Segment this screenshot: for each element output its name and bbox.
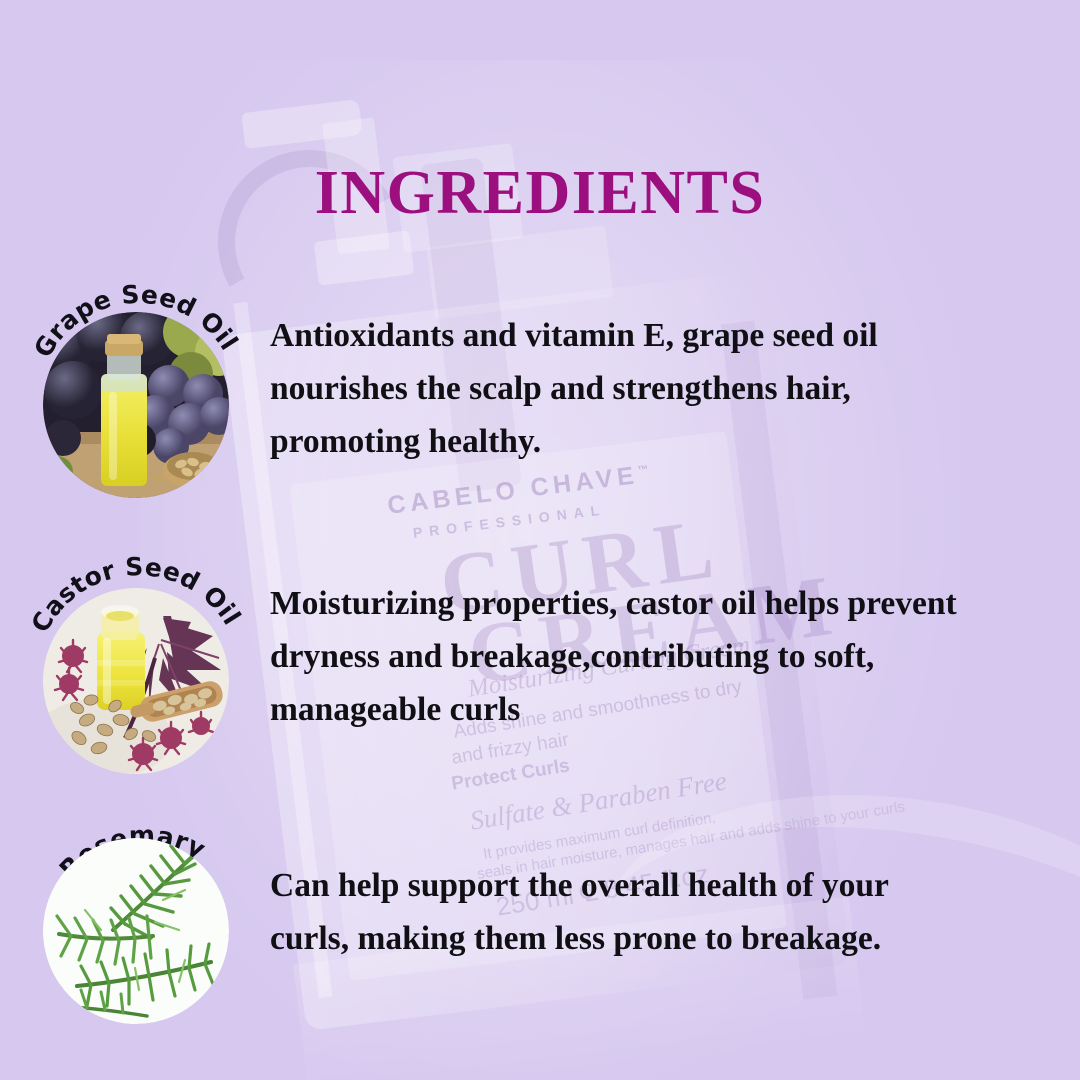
watermark-brand-name: CABELO CHAVE™	[386, 460, 651, 521]
rosemary-photo	[43, 838, 229, 1024]
watermark-description-1: It provides maximum curl definition,	[482, 809, 717, 863]
watermark-claim: Sulfate & Paraben Free	[468, 765, 729, 836]
castor-seed-oil-photo	[43, 588, 229, 774]
ingredient-badge-castor-seed-oil: Castor Seed Oil	[34, 528, 239, 758]
watermark-brand-subtitle: PROFESSIONAL	[412, 501, 607, 541]
ingredient-description-grape-seed-oil: Antioxidants and vitamin E, grape seed o…	[270, 310, 960, 469]
pump-nozzle	[241, 99, 363, 149]
ingredient-description-castor-seed-oil: Moisturizing properties, castor oil help…	[270, 578, 960, 737]
ingredient-badge-rosemary: Rosemary	[34, 778, 239, 1008]
page-title: INGREDIENTS	[0, 158, 1080, 229]
bottle-shoulder-block	[426, 225, 613, 318]
ingredient-description-rosemary: Can help support the overall health of y…	[270, 860, 960, 966]
watermark-benefit-3: Protect Curls	[450, 755, 571, 795]
ingredients-infographic: CABELO CHAVE™ PROFESSIONAL CURL CREAM Mo…	[0, 0, 1080, 1080]
pump-collar	[314, 230, 415, 285]
grape-seed-oil-photo	[43, 312, 229, 498]
ingredient-badge-grape-seed-oil: Grape Seed Oil	[34, 252, 239, 482]
watermark-brand-text: CABELO CHAVE	[386, 461, 640, 520]
